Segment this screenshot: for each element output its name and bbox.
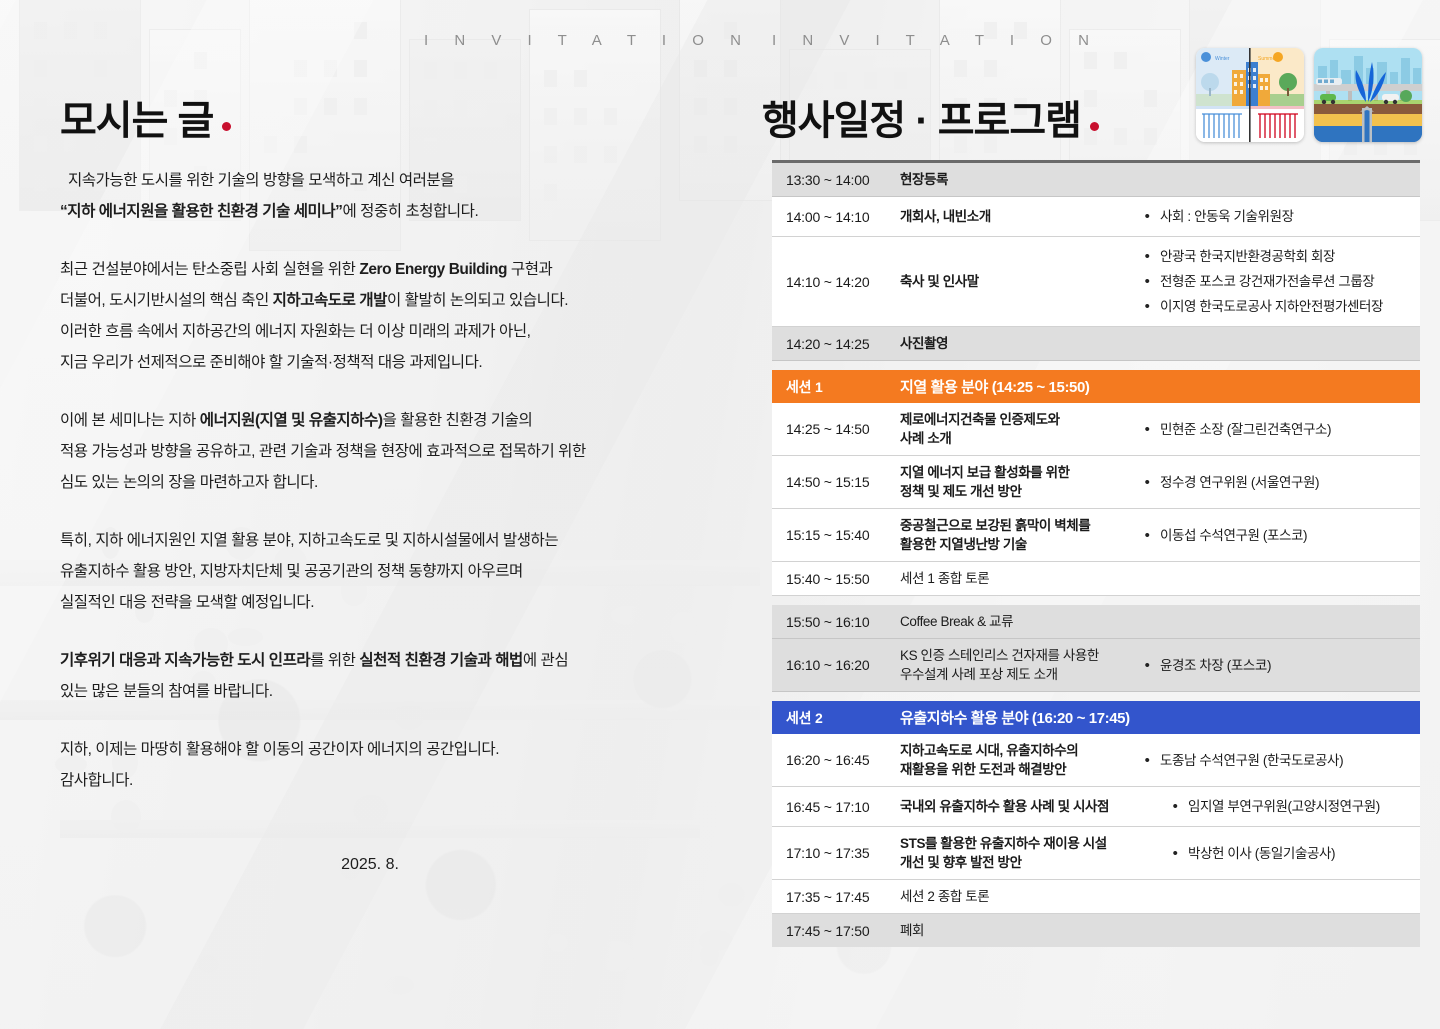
schedule-topic: 축사 및 인사말 [900,265,1134,298]
geothermal-illustration: Winter Summer [1196,48,1304,142]
greeting-text: 심도 있는 논의의 장을 마련하고자 합니다. [60,474,318,491]
greeting-text: 에 정중히 초청합니다. [342,203,478,220]
bullet-icon: • [1134,473,1160,492]
schedule-time: 14:00 ~ 14:10 [772,202,900,232]
greeting-text: 지속가능한 도시를 위한 기술의 방향을 모색하고 계신 여러분을 [68,172,454,189]
speaker-entry: •안광국 한국지반환경공학회 회장 [1134,244,1412,269]
greeting-text: 적용 가능성과 방향을 공유하고, 관련 기술과 정책을 현장에 효과적으로 접… [60,443,586,460]
schedule-speakers: •사회 : 안동욱 기술위원장 [1134,197,1420,236]
schedule-speakers [1134,572,1420,586]
greeting-paragraph: 지하, 이제는 마땅히 활용해야 할 이동의 공간이자 에너지의 공간입니다.감… [60,734,680,796]
greeting-emphasis: 에너지원(지열 및 유출지하수) [200,412,383,429]
bullet-icon: • [1134,247,1160,266]
schedule-topic: 제로에너지건축물 인증제도와사례 소개 [900,403,1134,455]
schedule-topic: Coffee Break & 교류 [900,605,1134,638]
speaker-name: 임지열 부연구위원(고양시정연구원) [1188,797,1412,816]
schedule-row: 14:25 ~ 14:50제로에너지건축물 인증제도와사례 소개•민현준 소장 … [772,403,1420,456]
schedule-row: 16:10 ~ 16:20KS 인증 스테인리스 건자재를 사용한우수설계 사례… [772,639,1420,692]
schedule-time: 14:50 ~ 15:15 [772,467,900,497]
bullet-icon: • [1134,420,1160,439]
greeting-emphasis: 지하고속도로 개발 [273,292,387,309]
speaker-entry: •민현준 소장 (잘그린건축연구소) [1134,417,1412,442]
title-dot-accent-icon [222,122,231,131]
schedule-time: 14:10 ~ 14:20 [772,267,900,297]
session-header: 세션 1지열 활용 분야 (14:25 ~ 15:50) [772,370,1420,403]
greeting-emphasis: “지하 에너지원을 활용한 친환경 기술 세미나” [60,203,342,220]
schedule-speakers: •정수경 연구위원 (서울연구원) [1134,463,1420,502]
bullet-icon: • [1134,656,1160,675]
bullet-icon: • [1134,751,1160,770]
greeting-paragraph: “지하 에너지원을 활용한 친환경 기술 세미나”에 정중히 초청합니다. [60,196,680,227]
greeting-text: 유출지하수 활용 방안, 지방자치단체 및 공공기관의 정책 동향까지 아우르며 [60,563,523,580]
schedule-group-gap [772,692,1420,701]
schedule-topic: KS 인증 스테인리스 건자재를 사용한우수설계 사례 포상 제도 소개 [900,639,1134,691]
speaker-name: 박상헌 이사 (동일기술공사) [1188,844,1412,863]
schedule-row: 16:20 ~ 16:45지하고속도로 시대, 유출지하수의재활용을 위한 도전… [772,734,1420,787]
schedule-title: 행사일정 · 프로그램 [762,88,1099,146]
speaker-entry: •정수경 연구위원 (서울연구원) [1134,470,1412,495]
schedule-speakers [1134,890,1420,904]
schedule-time: 16:45 ~ 17:10 [772,792,900,822]
schedule-topic: 지하고속도로 시대, 유출지하수의재활용을 위한 도전과 해결방안 [900,734,1134,786]
session-title: 지열 활용 분야 (14:25 ~ 15:50) [900,370,1090,403]
schedule-time: 17:10 ~ 17:35 [772,838,900,868]
schedule-speakers: •이동섭 수석연구원 (포스코) [1134,516,1420,555]
schedule-column: I N V I T A T I O N 행사일정 · 프로그램 Winter S… [730,0,1440,1029]
speaker-entry: •임지열 부연구위원(고양시정연구원) [1162,794,1412,819]
greeting-text: 이 활발히 논의되고 있습니다. [387,292,568,309]
greeting-text: 실질적인 대응 전략을 모색할 예정입니다. [60,594,314,611]
schedule-row: 13:30 ~ 14:00현장등록 [772,163,1420,197]
greeting-text: 이러한 흐름 속에서 지하공간의 에너지 자원화는 더 이상 미래의 과제가 아… [60,323,531,340]
signature-date: 2025. 8. [60,856,680,874]
illustration-thumbnails: Winter Summer [1196,48,1422,142]
greeting-paragraph: 최근 건설분야에서는 탄소중립 사회 실현을 위한 Zero Energy Bu… [60,254,680,378]
speaker-entry: •사회 : 안동욱 기술위원장 [1134,204,1412,229]
greeting-body: 지속가능한 도시를 위한 기술의 방향을 모색하고 계신 여러분을“지하 에너지… [60,165,680,796]
svg-text:Summer: Summer [1258,56,1277,62]
speaker-name: 사회 : 안동욱 기술위원장 [1160,207,1412,226]
schedule-topic: 세션 2 종합 토론 [900,880,1134,913]
greeting-text: 를 위한 [310,652,359,669]
schedule-speakers: •민현준 소장 (잘그린건축연구소) [1134,410,1420,449]
greeting-text: 이에 본 세미나는 지하 [60,412,200,429]
schedule-table: 13:30 ~ 14:00현장등록14:00 ~ 14:10개회사, 내빈소개•… [772,160,1420,947]
schedule-speakers: •윤경조 차장 (포스코) [1134,646,1420,685]
schedule-speakers: •박상헌 이사 (동일기술공사) [1162,834,1420,873]
schedule-speakers: •도종남 수석연구원 (한국도로공사) [1134,741,1420,780]
schedule-row: 17:45 ~ 17:50폐회 [772,914,1420,947]
schedule-row: 15:50 ~ 16:10Coffee Break & 교류 [772,605,1420,639]
svg-text:Winter: Winter [1215,56,1230,62]
bullet-icon: • [1162,844,1188,863]
schedule-speakers [1134,173,1420,187]
schedule-speakers: •안광국 한국지반환경공학회 회장•전형준 포스코 강건재가전솔루션 그룹장•이… [1134,237,1420,326]
speaker-entry: •도종남 수석연구원 (한국도로공사) [1134,748,1412,773]
greeting-paragraph: 기후위기 대응과 지속가능한 도시 인프라를 위한 실천적 친환경 기술과 해법… [60,645,680,707]
schedule-topic: 사진촬영 [900,327,1134,360]
session-title: 유출지하수 활용 분야 (16:20 ~ 17:45) [900,701,1130,734]
greeting-text: 감사합니다. [60,772,133,789]
greeting-text: 지하, 이제는 마땅히 활용해야 할 이동의 공간이자 에너지의 공간입니다. [60,741,499,758]
schedule-row: 14:50 ~ 15:15지열 에너지 보급 활성화를 위한정책 및 제도 개선… [772,456,1420,509]
greeting-paragraph: 이에 본 세미나는 지하 에너지원(지열 및 유출지하수)을 활용한 친환경 기… [60,405,680,498]
greeting-emphasis: Zero Energy Building [359,261,507,278]
speaker-name: 전형준 포스코 강건재가전솔루션 그룹장 [1160,272,1412,291]
schedule-time: 14:25 ~ 14:50 [772,414,900,444]
schedule-row: 15:40 ~ 15:50세션 1 종합 토론 [772,562,1420,596]
speaker-entry: •윤경조 차장 (포스코) [1134,653,1412,678]
greeting-text: 구현과 [507,261,552,278]
schedule-topic: 폐회 [900,914,1134,947]
schedule-time: 17:35 ~ 17:45 [772,882,900,912]
greeting-text: 지금 우리가 선제적으로 준비해야 할 기술적·정책적 대응 과제입니다. [60,354,482,371]
greeting-text: 에 관심 [523,652,568,669]
schedule-topic: 현장등록 [900,163,1134,196]
bullet-icon: • [1134,526,1160,545]
left-kicker: I N V I T A T I O N [424,32,752,49]
schedule-group-gap [772,596,1420,605]
bullet-icon: • [1134,207,1160,226]
schedule-topic: 중공철근으로 보강된 흙막이 벽체를활용한 지열냉난방 기술 [900,509,1134,561]
speaker-entry: •이지영 한국도로공사 지하안전평가센터장 [1134,294,1412,319]
bullet-icon: • [1162,797,1188,816]
speaker-name: 민현준 소장 (잘그린건축연구소) [1160,420,1412,439]
speaker-name: 이동섭 수석연구원 (포스코) [1160,526,1412,545]
invitation-page: I N V I T A T I O N 모시는 글 지속가능한 도시를 위한 기… [0,0,1440,1029]
speaker-name: 정수경 연구위원 (서울연구원) [1160,473,1412,492]
speaker-name: 이지영 한국도로공사 지하안전평가센터장 [1160,297,1412,316]
speaker-name: 도종남 수석연구원 (한국도로공사) [1160,751,1412,770]
schedule-title-text: 행사일정 · 프로그램 [762,99,1081,143]
session-label: 세션 2 [772,702,900,734]
speaker-name: 안광국 한국지반환경공학회 회장 [1160,247,1412,266]
session-header: 세션 2유출지하수 활용 분야 (16:20 ~ 17:45) [772,701,1420,734]
right-kicker: I N V I T A T I O N [772,32,1100,49]
greeting-text: 최근 건설분야에서는 탄소중립 사회 실현을 위한 [60,261,359,278]
greeting-emphasis: 실천적 친환경 기술과 해법 [359,652,522,669]
greeting-emphasis: 기후위기 대응과 지속가능한 도시 인프라 [60,652,310,669]
schedule-time: 14:20 ~ 14:25 [772,329,900,359]
schedule-time: 13:30 ~ 14:00 [772,165,900,195]
greeting-title: 모시는 글 [60,88,231,146]
schedule-topic: 지열 에너지 보급 활성화를 위한정책 및 제도 개선 방안 [900,456,1134,508]
groundwater-illustration [1314,48,1422,142]
greeting-paragraph: 지속가능한 도시를 위한 기술의 방향을 모색하고 계신 여러분을 [60,165,680,196]
greeting-text: 있는 많은 분들의 참여를 바랍니다. [60,683,273,700]
schedule-speakers: •임지열 부연구위원(고양시정연구원) [1162,787,1420,826]
schedule-row: 14:20 ~ 14:25사진촬영 [772,327,1420,361]
greeting-text: 더불어, 도시기반시설의 핵심 축인 [60,292,273,309]
speaker-name: 윤경조 차장 (포스코) [1160,656,1412,675]
schedule-topic: 개회사, 내빈소개 [900,200,1134,233]
schedule-topic: 세션 1 종합 토론 [900,562,1134,595]
schedule-speakers [1134,337,1420,351]
schedule-time: 15:40 ~ 15:50 [772,564,900,594]
speaker-entry: •박상헌 이사 (동일기술공사) [1162,841,1412,866]
schedule-row: 17:35 ~ 17:45세션 2 종합 토론 [772,880,1420,914]
speaker-entry: •이동섭 수석연구원 (포스코) [1134,523,1412,548]
schedule-row: 14:00 ~ 14:10개회사, 내빈소개•사회 : 안동욱 기술위원장 [772,197,1420,237]
title-dot-accent-icon [1090,122,1099,131]
schedule-time: 16:10 ~ 16:20 [772,650,900,680]
schedule-row: 14:10 ~ 14:20축사 및 인사말•안광국 한국지반환경공학회 회장•전… [772,237,1420,327]
schedule-time: 17:45 ~ 17:50 [772,916,900,946]
greeting-paragraph: 특히, 지하 에너지원인 지열 활용 분야, 지하고속도로 및 지하시설물에서 … [60,525,680,618]
greeting-title-text: 모시는 글 [60,99,213,143]
schedule-time: 16:20 ~ 16:45 [772,745,900,775]
schedule-speakers [1134,615,1420,629]
schedule-time: 15:50 ~ 16:10 [772,607,900,637]
speaker-entry: •전형준 포스코 강건재가전솔루션 그룹장 [1134,269,1412,294]
schedule-row: 16:45 ~ 17:10국내외 유출지하수 활용 사례 및 시사점•임지열 부… [772,787,1420,827]
schedule-speakers [1134,924,1420,938]
session-label: 세션 1 [772,371,900,403]
bullet-icon: • [1134,272,1160,291]
schedule-time: 15:15 ~ 15:40 [772,520,900,550]
greeting-column: I N V I T A T I O N 모시는 글 지속가능한 도시를 위한 기… [0,0,730,1029]
schedule-row: 17:10 ~ 17:35STS를 활용한 유출지하수 재이용 시설개선 및 향… [772,827,1420,880]
schedule-topic: STS를 활용한 유출지하수 재이용 시설개선 및 향후 발전 방안 [900,827,1162,879]
greeting-text: 특히, 지하 에너지원인 지열 활용 분야, 지하고속도로 및 지하시설물에서 … [60,532,558,549]
schedule-topic: 국내외 유출지하수 활용 사례 및 시사점 [900,790,1162,823]
schedule-group-gap [772,361,1420,370]
greeting-text: 을 활용한 친환경 기술의 [383,412,533,429]
schedule-row: 15:15 ~ 15:40중공철근으로 보강된 흙막이 벽체를활용한 지열냉난방… [772,509,1420,562]
bullet-icon: • [1134,297,1160,316]
